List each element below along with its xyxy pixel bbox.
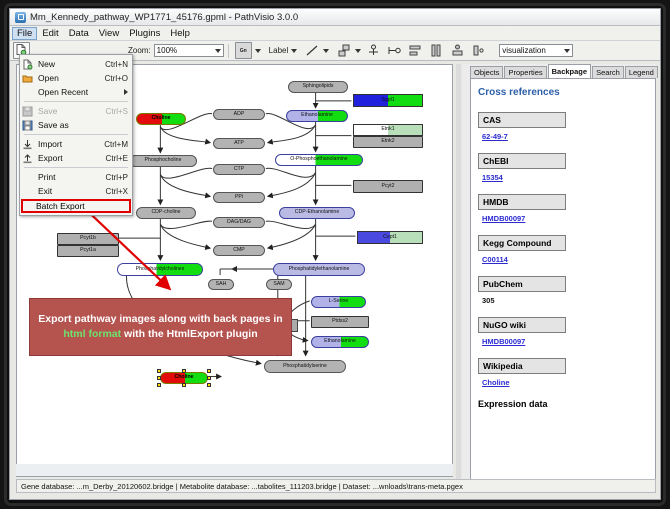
right-panel-tabs: Objects Properties Backpage Search Legen… (470, 64, 659, 78)
xref-value-chebi: 15354 (482, 173, 648, 182)
align-icon[interactable] (407, 43, 424, 58)
line-dropdown[interactable] (299, 43, 329, 58)
resize-handle-w[interactable] (157, 376, 161, 380)
chevron-down-icon (255, 49, 261, 53)
tab-search[interactable]: Search (592, 66, 624, 78)
menu-item-new[interactable]: New Ctrl+N (20, 57, 132, 71)
node-cept1[interactable]: Cept1 (357, 231, 423, 244)
node-sgpl1[interactable]: Sgpl1 (353, 94, 423, 107)
menu-item-export[interactable]: Export Ctrl+E (20, 151, 132, 165)
node-pcyt1b[interactable]: Pcyt1b (57, 233, 119, 245)
menu-item-save-as[interactable]: Save as (20, 118, 132, 132)
tab-objects[interactable]: Objects (470, 66, 503, 78)
chevron-down-icon (564, 49, 570, 53)
menu-item-exit-label: Exit (38, 186, 106, 196)
xref-value-hmdb: HMDB00097 (482, 214, 648, 223)
blank-icon (22, 87, 33, 98)
menu-separator (24, 134, 128, 135)
canvas-horizontal-scrollbar[interactable] (16, 464, 453, 476)
save-disk-icon (22, 106, 33, 117)
node-cdp-choline[interactable]: CDP-choline (136, 207, 196, 219)
screenshot-root: Mm_Kennedy_pathway_WP1771_45176.gpml - P… (0, 0, 670, 509)
node-sphingolipids[interactable]: Sphingolipids (288, 81, 348, 93)
xref-link-wikipedia[interactable]: Choline (482, 378, 510, 387)
node-adp[interactable]: ADP (213, 109, 265, 120)
blank-icon (22, 172, 33, 183)
visualization-value: visualization (502, 46, 546, 55)
xref-value-nugo: HMDB00097 (482, 337, 648, 346)
menu-edit[interactable]: Edit (37, 27, 63, 40)
node-etnk2[interactable]: Etnk2 (353, 136, 423, 148)
visualization-combo[interactable]: visualization (499, 44, 573, 57)
save-as-icon (22, 120, 33, 131)
annotation-text: Export pathway images along with back pa… (36, 312, 285, 342)
chevron-down-icon (355, 49, 361, 53)
resize-handle-nw[interactable] (157, 369, 161, 373)
menu-view[interactable]: View (94, 27, 124, 40)
tab-properties[interactable]: Properties (504, 66, 546, 78)
node-phosphocholine[interactable]: Phosphocholine (129, 155, 197, 167)
menu-separator (24, 167, 128, 168)
xref-header-kegg: Kegg Compound (478, 235, 566, 251)
xref-link-nugo[interactable]: HMDB00097 (482, 337, 525, 346)
shape-dropdown[interactable] (331, 43, 361, 58)
xref-header-cas: CAS (478, 112, 566, 128)
xref-header-wikipedia: Wikipedia (478, 358, 566, 374)
menu-bar: File Edit Data View Plugins Help (10, 26, 660, 41)
menu-item-open-recent-label: Open Recent (38, 87, 124, 97)
chevron-down-icon (291, 49, 297, 53)
file-menu-popup[interactable]: New Ctrl+N Open Ctrl+O Open Recent Save … (19, 54, 133, 216)
group-icon[interactable] (449, 43, 466, 58)
xref-value-kegg: C00114 (482, 255, 648, 264)
xref-link-chebi[interactable]: 15354 (482, 173, 503, 182)
node-phosphatidylethanolamine[interactable]: Phosphatidylethanolamine (273, 263, 365, 276)
menu-item-export-label: Export (38, 153, 106, 163)
interaction-icon[interactable] (386, 43, 403, 58)
menu-item-new-shortcut: Ctrl+N (105, 60, 132, 69)
selected-node-choline[interactable]: Choline (160, 372, 208, 384)
xref-header-chebi: ChEBI (478, 153, 566, 169)
right-panel-scrollbar[interactable] (456, 64, 461, 489)
resize-handle-se[interactable] (207, 383, 211, 387)
resize-handle-n[interactable] (182, 369, 186, 373)
submenu-arrow-icon (124, 89, 128, 95)
label-dropdown[interactable]: Label (263, 46, 298, 55)
window-title: Mm_Kennedy_pathway_WP1771_45176.gpml - P… (30, 12, 298, 23)
node-ptdss2[interactable]: Ptdss2 (311, 316, 369, 328)
open-folder-icon (22, 73, 33, 84)
chevron-down-icon (215, 49, 221, 53)
node-sam[interactable]: SAM (266, 279, 292, 290)
import-icon (22, 139, 33, 150)
node-pcyt1a[interactable]: Pcyt1a (57, 245, 119, 257)
node-ctp[interactable]: CTP (213, 164, 265, 175)
pathvisio-icon (15, 12, 26, 23)
node-phosphatidylserine[interactable]: Phosphatidylserine (264, 360, 346, 373)
node-o-phosphoethanolamine[interactable]: O-Phosphoethanolamine (275, 154, 363, 166)
label-button-text: Label (269, 46, 289, 55)
menu-plugins[interactable]: Plugins (124, 27, 165, 40)
resize-handle-s[interactable] (182, 383, 186, 387)
node-l-serine[interactable]: L-Serine (311, 296, 366, 308)
xref-header-nugo: NuGO wiki (478, 317, 566, 333)
menu-item-exit[interactable]: Exit Ctrl+X (20, 184, 132, 198)
xref-value-wikipedia: Choline (482, 378, 648, 387)
node-ppi[interactable]: PPi (213, 192, 265, 203)
tab-backpage[interactable]: Backpage (548, 64, 591, 78)
menu-help[interactable]: Help (165, 27, 195, 40)
datanode-dropdown[interactable]: Gn (235, 42, 261, 59)
new-document-icon (22, 59, 33, 70)
menu-item-open-label: Open (38, 73, 105, 83)
node-cdp-ethanolamine[interactable]: CDP-Ethanolamine (279, 207, 355, 219)
stack-icon[interactable] (428, 43, 445, 58)
xref-header-hmdb: HMDB (478, 194, 566, 210)
chevron-down-icon (323, 49, 329, 53)
anchor-icon[interactable] (365, 43, 382, 58)
zoom-value: 100% (157, 46, 177, 55)
menu-item-save-shortcut: Ctrl+S (106, 107, 132, 116)
backpage-content: Cross references CAS 62-49-7 ChEBI 15354… (470, 78, 656, 483)
xref-link-cas[interactable]: 62-49-7 (482, 132, 508, 141)
menu-item-save: Save Ctrl+S (20, 104, 132, 118)
status-bar: Gene database: ...m_Derby_20120602.bridg… (16, 479, 656, 493)
node-etnk1[interactable]: Etnk1 (353, 124, 423, 136)
menu-item-print-shortcut: Ctrl+P (106, 173, 132, 182)
node-atp[interactable]: ATP (213, 138, 265, 149)
tab-legend[interactable]: Legend (625, 66, 658, 78)
menu-item-new-label: New (38, 59, 105, 69)
resize-handle-e[interactable] (207, 376, 211, 380)
menu-data[interactable]: Data (64, 27, 94, 40)
annotation-callout: Export pathway images along with back pa… (29, 298, 292, 356)
menu-item-batch-export[interactable]: Batch Export (21, 199, 131, 213)
xref-header-pubchem: PubChem (478, 276, 566, 292)
menu-item-open-recent[interactable]: Open Recent (20, 85, 132, 99)
expression-data-heading: Expression data (478, 399, 648, 409)
right-panel: Objects Properties Backpage Search Legen… (462, 64, 656, 489)
menu-file[interactable]: File (12, 27, 37, 40)
node-ethanolamine[interactable]: Ethanolamine (286, 110, 348, 122)
cross-references-title: Cross references (478, 87, 648, 98)
xref-value-pubchem: 305 (482, 296, 648, 305)
menu-item-open[interactable]: Open Ctrl+O (20, 71, 132, 85)
order-icon[interactable] (470, 43, 487, 58)
xref-link-hmdb[interactable]: HMDB00097 (482, 214, 525, 223)
menu-item-save-label: Save (38, 106, 106, 116)
menu-item-print[interactable]: Print Ctrl+P (20, 170, 132, 184)
menu-item-import[interactable]: Import Ctrl+M (20, 137, 132, 151)
blank-icon (22, 186, 33, 197)
menu-item-import-label: Import (38, 139, 104, 149)
menu-item-print-label: Print (38, 172, 106, 182)
node-ethanolamine-2[interactable]: Ethanolamine (311, 336, 369, 348)
resize-handle-sw[interactable] (157, 383, 161, 387)
xref-link-kegg[interactable]: C00114 (482, 255, 508, 264)
menu-item-export-shortcut: Ctrl+E (106, 154, 132, 163)
menu-item-save-as-label: Save as (38, 120, 128, 130)
node-dag[interactable]: DAG/DAG (213, 217, 265, 228)
node-cmp[interactable]: CMP (213, 245, 265, 256)
resize-handle-ne[interactable] (207, 369, 211, 373)
pathvisio-window: Mm_Kennedy_pathway_WP1771_45176.gpml - P… (9, 8, 661, 500)
title-bar: Mm_Kennedy_pathway_WP1771_45176.gpml - P… (10, 9, 660, 26)
node-pcyt2[interactable]: Pcyt2 (353, 180, 423, 193)
menu-item-open-shortcut: Ctrl+O (105, 74, 132, 83)
node-choline[interactable]: Choline (136, 113, 186, 125)
menu-item-exit-shortcut: Ctrl+X (106, 187, 132, 196)
toolbar-divider (228, 44, 229, 58)
node-sah[interactable]: SAH (208, 279, 234, 290)
xref-value-cas: 62-49-7 (482, 132, 648, 141)
menu-item-import-shortcut: Ctrl+M (104, 140, 132, 149)
export-icon (22, 153, 33, 164)
node-phosphatidylcholines[interactable]: Phosphatidylcholines (117, 263, 203, 276)
zoom-combo[interactable]: 100% (154, 44, 224, 57)
menu-separator (24, 101, 128, 102)
